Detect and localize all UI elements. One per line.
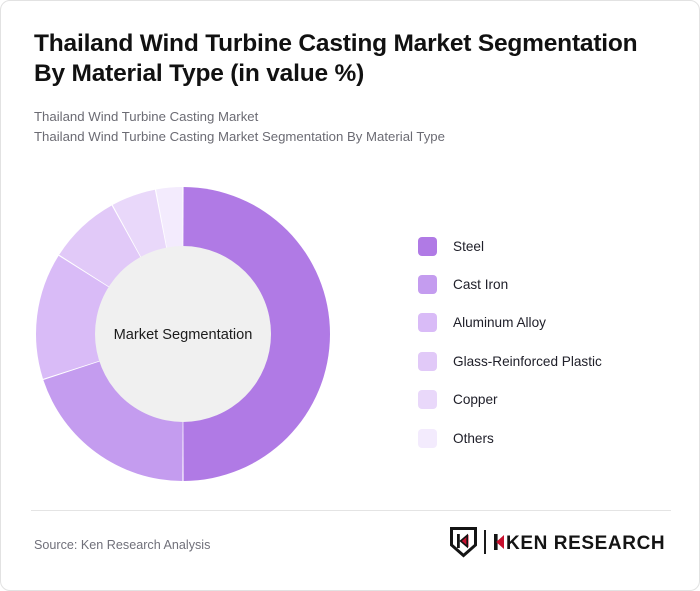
chart-header: Thailand Wind Turbine Casting Market Seg… bbox=[34, 29, 669, 148]
ken-research-wordmark: KEN RESEARCH bbox=[493, 530, 671, 554]
legend-swatch-icon bbox=[418, 390, 437, 409]
ken-research-shield-icon bbox=[449, 526, 478, 558]
donut-svg: Market Segmentation bbox=[33, 184, 333, 484]
legend-label: Others bbox=[453, 431, 494, 446]
subtitle-line-2: Thailand Wind Turbine Casting Market Seg… bbox=[34, 127, 669, 147]
legend-label: Steel bbox=[453, 239, 484, 254]
ken-research-logo: KEN RESEARCH bbox=[449, 525, 671, 559]
legend-swatch-icon bbox=[418, 275, 437, 294]
donut-chart: Market Segmentation bbox=[33, 184, 333, 484]
legend-item[interactable]: Steel bbox=[418, 227, 668, 265]
legend-item[interactable]: Glass-Reinforced Plastic bbox=[418, 342, 668, 380]
legend-item[interactable]: Aluminum Alloy bbox=[418, 304, 668, 342]
legend-label: Copper bbox=[453, 392, 498, 407]
subtitle-block: Thailand Wind Turbine Casting Market Tha… bbox=[34, 107, 669, 148]
legend-label: Cast Iron bbox=[453, 277, 508, 292]
donut-center-label: Market Segmentation bbox=[114, 327, 253, 343]
legend-item[interactable]: Others bbox=[418, 419, 668, 457]
legend-swatch-icon bbox=[418, 313, 437, 332]
plot-area: Market Segmentation SteelCast IronAlumin… bbox=[1, 171, 700, 501]
source-note: Source: Ken Research Analysis bbox=[34, 538, 210, 552]
legend-label: Glass-Reinforced Plastic bbox=[453, 354, 602, 369]
subtitle-line-1: Thailand Wind Turbine Casting Market bbox=[34, 107, 669, 127]
legend-swatch-icon bbox=[418, 429, 437, 448]
legend-item[interactable]: Cast Iron bbox=[418, 265, 668, 303]
chart-card: Thailand Wind Turbine Casting Market Seg… bbox=[0, 0, 700, 591]
chart-legend: SteelCast IronAluminum AlloyGlass-Reinfo… bbox=[418, 227, 668, 457]
legend-label: Aluminum Alloy bbox=[453, 315, 546, 330]
footer-divider bbox=[31, 510, 671, 511]
page-title: Thailand Wind Turbine Casting Market Seg… bbox=[34, 29, 669, 90]
logo-text-label: KEN RESEARCH bbox=[506, 533, 665, 554]
legend-swatch-icon bbox=[418, 237, 437, 256]
logo-divider bbox=[484, 530, 486, 554]
legend-item[interactable]: Copper bbox=[418, 381, 668, 419]
legend-swatch-icon bbox=[418, 352, 437, 371]
